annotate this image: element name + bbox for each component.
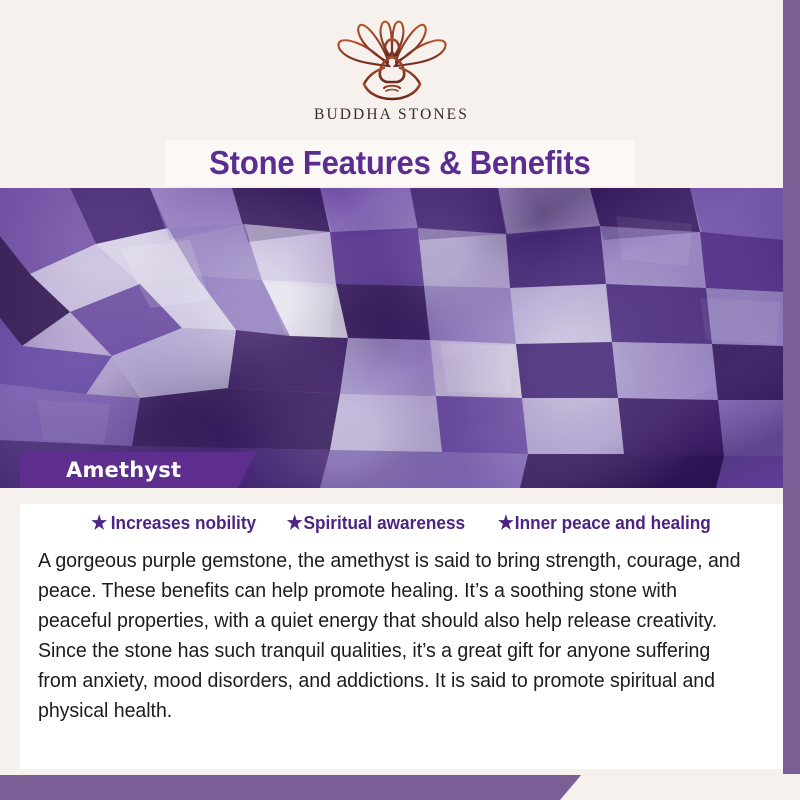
amethyst-photo [0, 188, 783, 488]
corner-notch-bottom-right [560, 774, 800, 800]
crystal-facets-overlay [0, 188, 783, 488]
benefit-item-1: ★ Spiritual awareness [287, 512, 465, 534]
benefit-item-2: ★ Inner peace and healing [498, 512, 711, 534]
corner-notch-top-left [0, 0, 240, 26]
benefits-list: ★ Increases nobility ★ Spiritual awarene… [20, 512, 783, 534]
star-icon: ★ [287, 514, 303, 533]
brand-logo: BUDDHA STONES [297, 18, 487, 124]
benefit-label-0: Increases nobility [110, 512, 255, 534]
brand-name: BUDDHA STONES [297, 106, 487, 124]
poster-root: BUDDHA STONES Stone Features & Benefits [0, 0, 800, 800]
description-panel: ★ Increases nobility ★ Spiritual awarene… [20, 488, 783, 775]
star-icon: ★ [498, 514, 514, 533]
stone-name-text: Amethyst [20, 458, 181, 482]
page-title-text: Stone Features & Benefits [209, 144, 590, 182]
benefit-label-2: Inner peace and healing [514, 512, 710, 534]
panel-top-divider [20, 488, 783, 504]
lotus-meditation-icon [332, 18, 452, 104]
benefit-item-0: ★ Increases nobility [91, 512, 256, 534]
stone-description: A gorgeous purple gemstone, the amethyst… [38, 546, 745, 726]
benefit-label-1: Spiritual awareness [303, 512, 465, 534]
stone-name-banner: Amethyst [20, 452, 256, 488]
page-title: Stone Features & Benefits [165, 140, 635, 186]
star-icon: ★ [91, 514, 107, 533]
